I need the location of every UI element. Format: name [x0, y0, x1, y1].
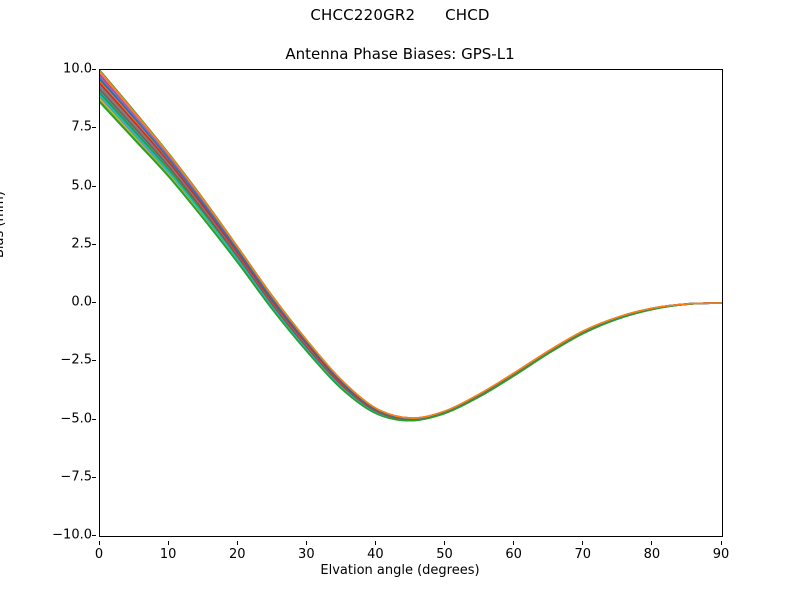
x-tick-mark — [513, 541, 514, 545]
y-tick-label: −10.0 — [32, 528, 92, 543]
y-tick-label: 10.0 — [32, 62, 92, 77]
x-tick-mark — [99, 541, 100, 545]
y-tick-label: −7.5 — [32, 469, 92, 484]
series-line — [100, 87, 722, 419]
x-tick-mark — [582, 541, 583, 545]
series-line — [100, 80, 722, 418]
series-line — [100, 91, 722, 420]
series-line — [100, 96, 722, 420]
series-line — [100, 71, 722, 418]
series-line — [100, 90, 722, 420]
figure-canvas: CHCC220GR2 CHCD Antenna Phase Biases: GP… — [0, 0, 800, 600]
series-line — [100, 77, 722, 419]
x-tick-mark — [444, 541, 445, 545]
x-axis-label: Elvation angle (degrees) — [0, 563, 800, 578]
series-line — [100, 86, 722, 419]
x-tick-label: 0 — [69, 547, 129, 562]
series-line — [100, 85, 722, 418]
x-tick-label: 30 — [276, 547, 336, 562]
series-line — [100, 79, 722, 419]
y-tick-label-group: −10.0−7.5−5.0−2.50.02.55.07.510.0 — [28, 69, 92, 535]
series-line — [100, 92, 722, 420]
series-line — [100, 72, 722, 418]
x-tick-label: 20 — [207, 547, 267, 562]
series-line — [100, 84, 722, 419]
x-tick-label: 40 — [345, 547, 405, 562]
y-tick-mark — [92, 186, 96, 187]
series-line — [100, 93, 722, 419]
plot-area — [99, 69, 723, 537]
series-line — [100, 74, 722, 418]
series-line — [100, 80, 722, 419]
series-line — [100, 97, 722, 420]
x-tick-label: 10 — [138, 547, 198, 562]
y-tick-mark — [92, 419, 96, 420]
y-tick-mark — [92, 477, 96, 478]
series-line — [100, 102, 722, 421]
y-tick-mark — [92, 69, 96, 70]
x-tick-mark — [168, 541, 169, 545]
figure-suptitle: CHCC220GR2 CHCD — [0, 6, 800, 24]
series-line — [100, 98, 722, 420]
x-tick-label-group: 0102030405060708090 — [99, 541, 721, 561]
x-tick-label: 50 — [415, 547, 475, 562]
y-tick-label: −2.5 — [32, 353, 92, 368]
x-tick-mark — [375, 541, 376, 545]
x-tick-mark — [306, 541, 307, 545]
y-tick-mark — [92, 244, 96, 245]
y-tick-mark — [92, 127, 96, 128]
x-tick-mark — [651, 541, 652, 545]
series-line — [100, 103, 722, 421]
series-line — [100, 73, 722, 418]
series-line — [100, 94, 722, 420]
series-line — [100, 82, 722, 419]
y-tick-label: 0.0 — [32, 295, 92, 310]
series-line — [100, 101, 722, 421]
y-tick-mark — [92, 360, 96, 361]
y-axis-label: Bias (mm) — [0, 191, 7, 258]
y-tick-mark — [92, 535, 96, 536]
x-tick-label: 90 — [691, 547, 751, 562]
series-line — [100, 76, 722, 419]
x-tick-mark — [721, 541, 722, 545]
x-tick-mark — [237, 541, 238, 545]
series-line — [100, 83, 722, 419]
y-tick-label: 2.5 — [32, 236, 92, 251]
axes-title: Antenna Phase Biases: GPS-L1 — [0, 45, 800, 63]
series-line — [100, 89, 722, 420]
y-tick-label: 7.5 — [32, 120, 92, 135]
series-line — [100, 77, 722, 418]
series-line — [100, 100, 722, 421]
x-tick-label: 80 — [622, 547, 682, 562]
x-tick-label: 60 — [484, 547, 544, 562]
y-tick-label: 5.0 — [32, 178, 92, 193]
y-tick-label: −5.0 — [32, 411, 92, 426]
x-tick-label: 70 — [553, 547, 613, 562]
series-canvas — [100, 70, 722, 536]
y-tick-mark — [92, 302, 96, 303]
series-line — [100, 70, 722, 418]
